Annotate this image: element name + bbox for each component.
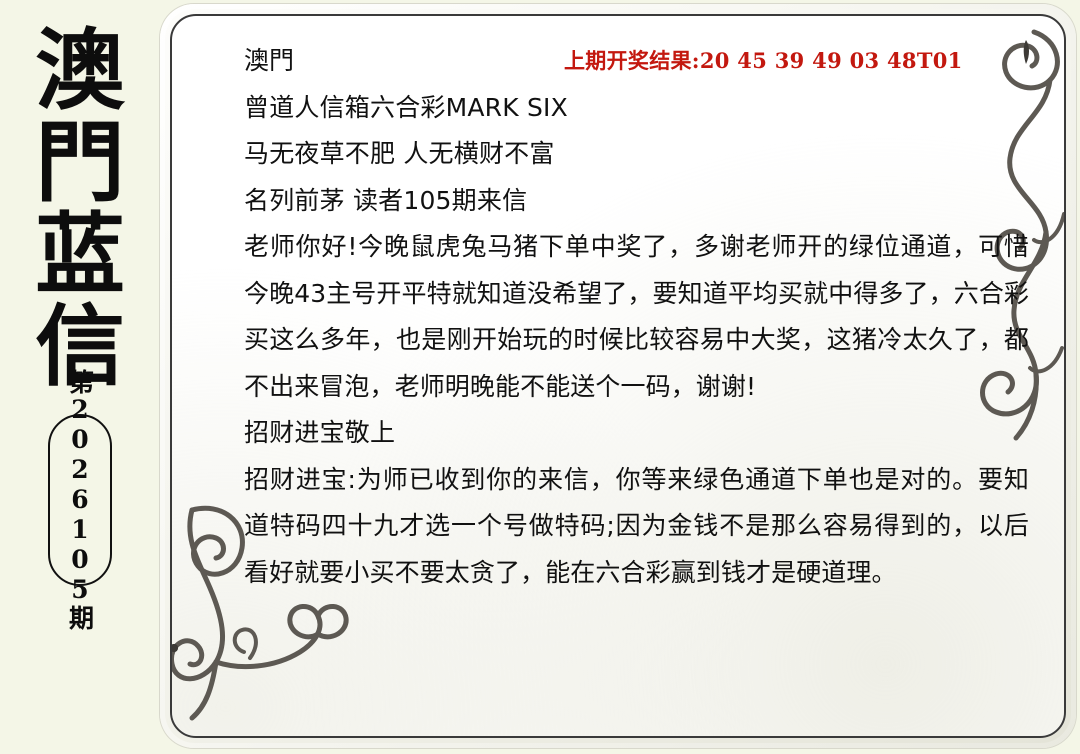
region-label: 澳門 [244, 38, 294, 85]
section-heading: 名列前茅 读者105期来信 [244, 178, 1034, 225]
reader-letter-paragraph: 老师你好!今晚鼠虎兔马猪下单中奖了，多谢老师开的绿位通道，可惜今晚43主号开平特… [244, 224, 1029, 410]
letter-card-page: 澳門 上期开奖结果:20 45 39 49 03 48T01 曾道人信箱六合彩M… [170, 14, 1066, 738]
proverb-line: 马无夜草不肥 人无横财不富 [244, 131, 1034, 178]
letter-card-frame-outer: 澳門 上期开奖结果:20 45 39 49 03 48T01 曾道人信箱六合彩M… [160, 4, 1076, 748]
masthead-panel: 澳 門 蓝 信 第2026105期 [0, 0, 160, 754]
publication-title-vertical: 澳 門 蓝 信 [36, 24, 124, 392]
letter-card-frame-inner: 澳門 上期开奖结果:20 45 39 49 03 48T01 曾道人信箱六合彩M… [165, 9, 1071, 743]
issue-number-text: 第2026105期 [68, 369, 93, 631]
title-char-4: 信 [35, 300, 125, 392]
master-reply-paragraph: 招财进宝:为师已收到你的来信，你等来绿色通道下单也是对的。要知道特码四十九才选一… [244, 457, 1029, 597]
previous-draw-result: 上期开奖结果:20 45 39 49 03 48T01 [564, 38, 963, 85]
title-char-2: 門 [35, 116, 125, 208]
title-char-1: 澳 [35, 24, 125, 116]
letter-signature: 招财进宝敬上 [244, 410, 1034, 457]
title-char-3: 蓝 [35, 208, 125, 300]
header-row: 澳門 上期开奖结果:20 45 39 49 03 48T01 [244, 38, 1034, 85]
issue-number-badge: 第2026105期 [48, 414, 112, 586]
letter-content: 澳門 上期开奖结果:20 45 39 49 03 48T01 曾道人信箱六合彩M… [244, 38, 1034, 596]
publication-subtitle: 曾道人信箱六合彩MARK SIX [244, 85, 1034, 132]
